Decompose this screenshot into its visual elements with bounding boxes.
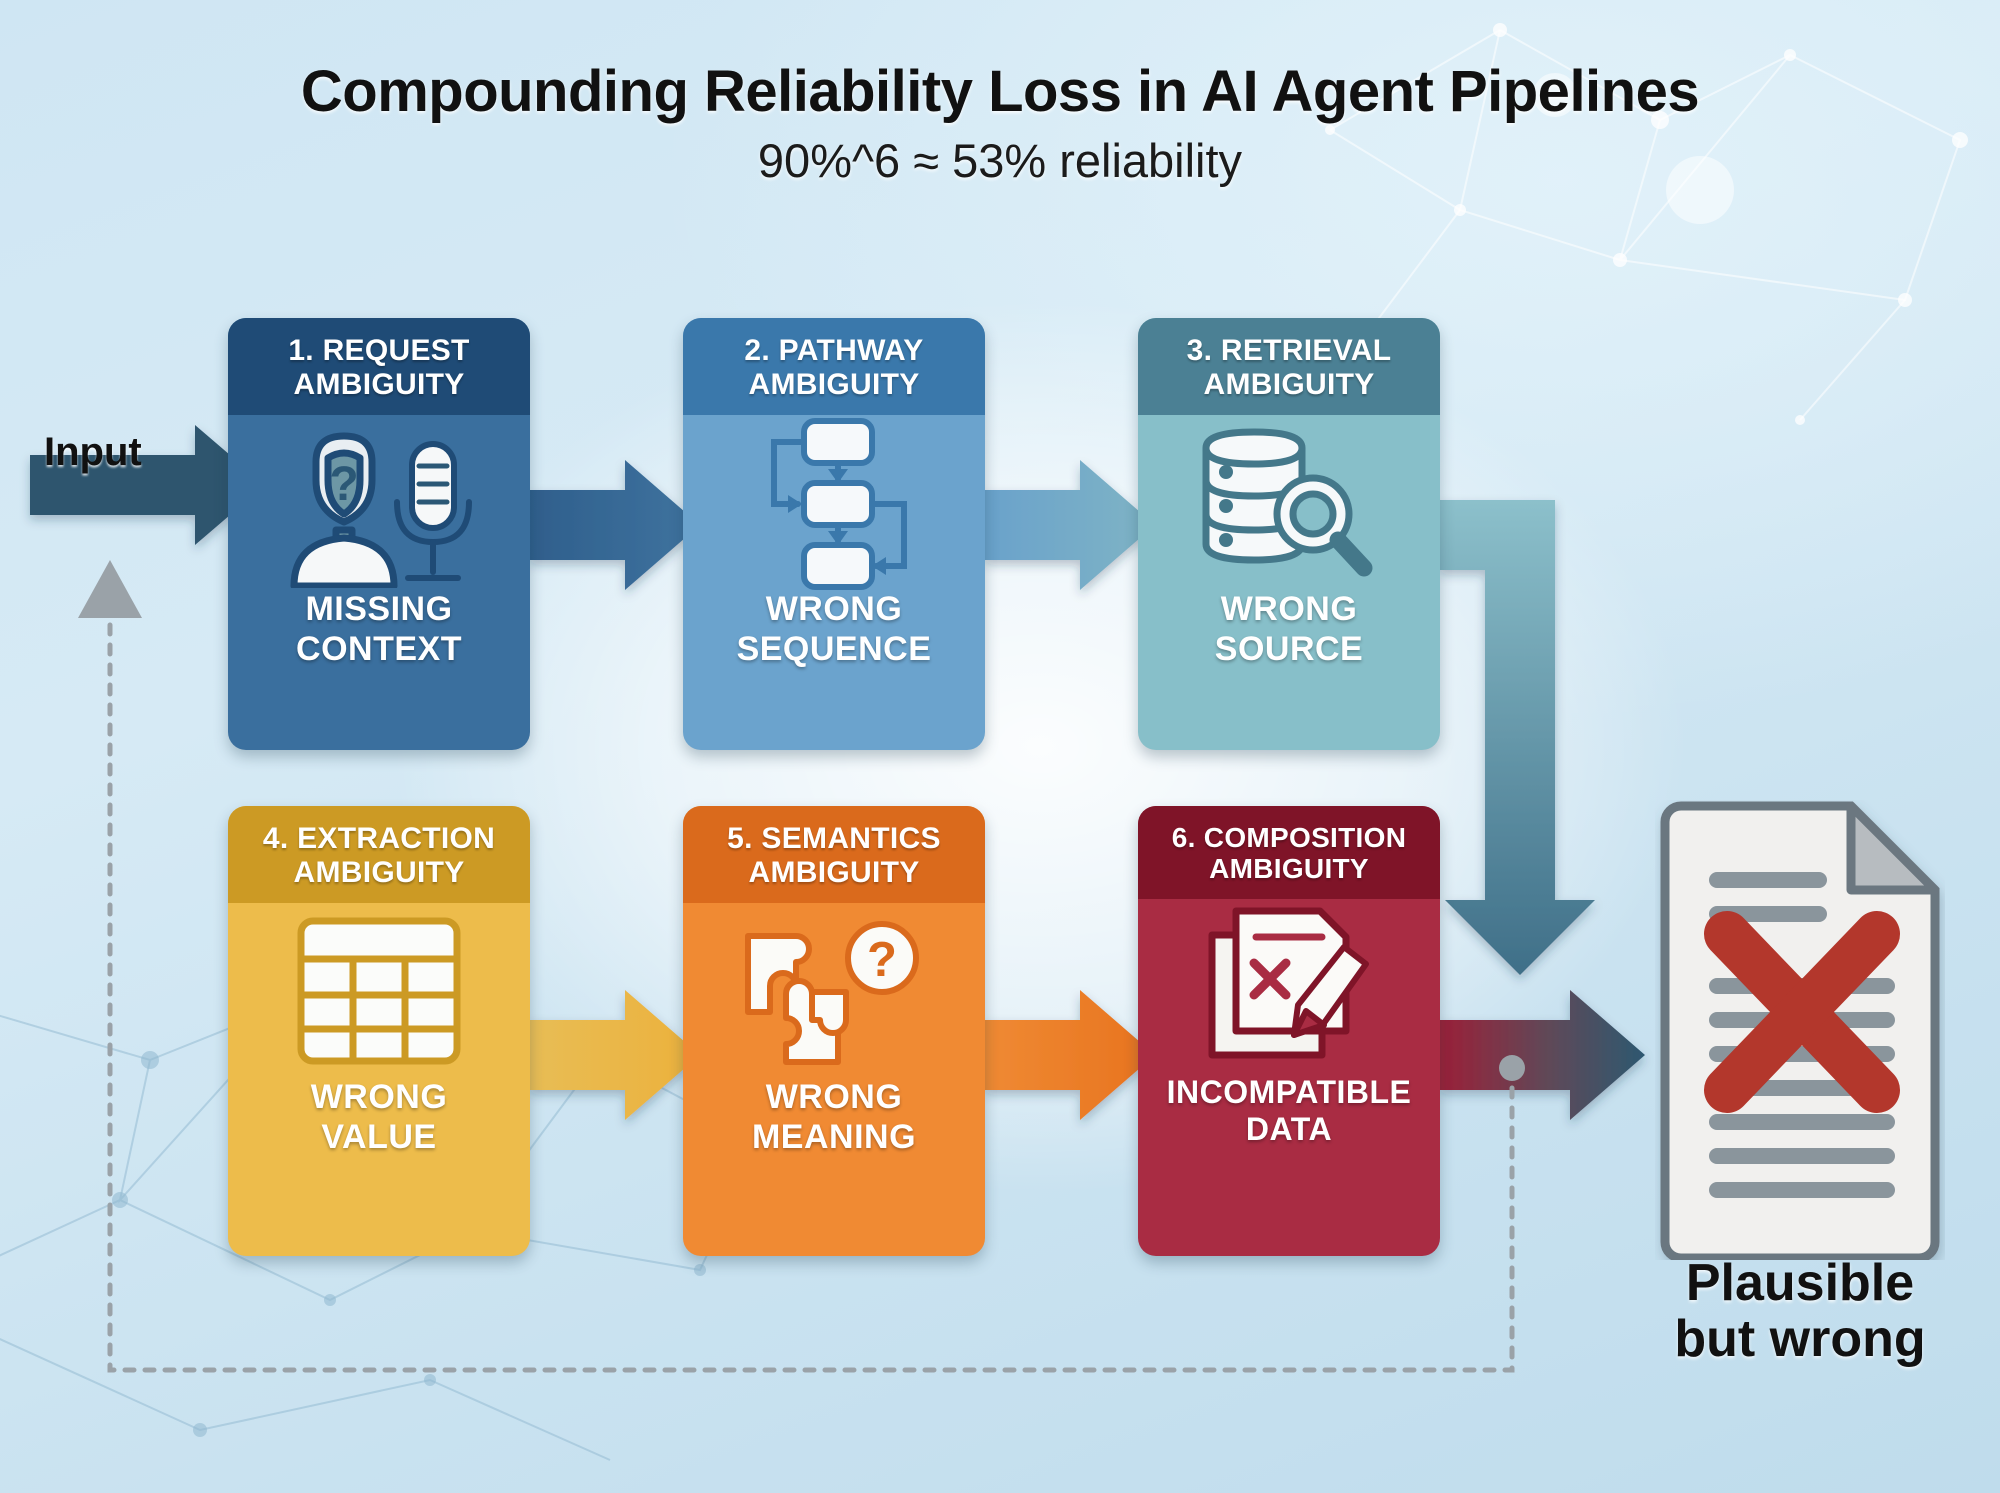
stage-3-header: 3. RETRIEVAL AMBIGUITY — [1138, 318, 1440, 415]
stage-4-foot-line1: WRONG — [311, 1078, 448, 1117]
stage-5-footer: WRONG MEANING — [752, 1078, 916, 1157]
svg-text:?: ? — [329, 458, 358, 511]
input-label: Input — [44, 430, 142, 475]
stage-card-6[interactable]: 6. COMPOSITION AMBIGUITY — [1138, 806, 1440, 1256]
stage-card-4[interactable]: 4. EXTRACTION AMBIGUITY — [228, 806, 530, 1256]
stage-2-header: 2. PATHWAY AMBIGUITY — [683, 318, 985, 415]
document-red-x-icon — [1655, 800, 1945, 1260]
stage-4-footer: WRONG VALUE — [311, 1078, 448, 1157]
flowchart-loop-icon — [734, 415, 934, 590]
stage-3-title-line2: AMBIGUITY — [1144, 368, 1434, 402]
stage-2-title-line2: AMBIGUITY — [689, 368, 979, 402]
stage-card-1[interactable]: 1. REQUEST AMBIGUITY ? — [228, 318, 530, 750]
stage-4-title-line1: 4. EXTRACTION — [234, 822, 524, 856]
person-question-microphone-icon: ? — [254, 415, 504, 590]
documents-pencil-x-icon — [1194, 899, 1384, 1074]
puzzle-question-icon: ? — [734, 903, 934, 1078]
stage-3-foot-line1: WRONG — [1215, 590, 1363, 629]
arrow-stage3-to-output-wrap — [1440, 500, 1595, 975]
arrow-stage1-to-stage2 — [530, 460, 700, 590]
stage-6-title-line1: 6. COMPOSITION — [1144, 822, 1434, 853]
stage-1-header: 1. REQUEST AMBIGUITY — [228, 318, 530, 415]
stage-3-title-line1: 3. RETRIEVAL — [1144, 334, 1434, 368]
stage-6-footer: INCOMPATIBLE DATA — [1167, 1074, 1412, 1148]
output-label-line2: but wrong — [1600, 1311, 2000, 1367]
stage-card-3[interactable]: 3. RETRIEVAL AMBIGUITY — [1138, 318, 1440, 750]
stage-card-2[interactable]: 2. PATHWAY AMBIGUITY — [683, 318, 985, 750]
table-grid-icon — [289, 903, 469, 1078]
stage-4-header: 4. EXTRACTION AMBIGUITY — [228, 806, 530, 903]
stage-5-header: 5. SEMANTICS AMBIGUITY — [683, 806, 985, 903]
stage-5-title-line1: 5. SEMANTICS — [689, 822, 979, 856]
arrow-stage2-to-stage3 — [985, 460, 1155, 590]
stage-3-footer: WRONG SOURCE — [1215, 590, 1363, 669]
stage-6-foot-line1: INCOMPATIBLE — [1167, 1074, 1412, 1111]
svg-text:?: ? — [867, 933, 897, 987]
stage-1-foot-line2: CONTEXT — [296, 630, 462, 669]
output-label-line1: Plausible — [1600, 1255, 2000, 1311]
output-label: Plausible but wrong — [1600, 1255, 2000, 1367]
stage-4-foot-line2: VALUE — [311, 1118, 448, 1157]
stage-5-foot-line1: WRONG — [752, 1078, 916, 1117]
stage-2-foot-line1: WRONG — [737, 590, 932, 629]
database-magnifier-icon — [1184, 415, 1394, 590]
stage-4-title-line2: AMBIGUITY — [234, 856, 524, 890]
stage-6-foot-line2: DATA — [1167, 1111, 1412, 1148]
stage-2-foot-line2: SEQUENCE — [737, 630, 932, 669]
stage-5-foot-line2: MEANING — [752, 1118, 916, 1157]
stage-1-footer: MISSING CONTEXT — [296, 590, 462, 669]
stage-6-header: 6. COMPOSITION AMBIGUITY — [1138, 806, 1440, 899]
stage-card-5[interactable]: 5. SEMANTICS AMBIGUITY ? — [683, 806, 985, 1256]
stage-1-foot-line1: MISSING — [296, 590, 462, 629]
feedback-loop-origin-dot — [1499, 1055, 1525, 1081]
stage-3-foot-line2: SOURCE — [1215, 630, 1363, 669]
stage-1-title-line2: AMBIGUITY — [234, 368, 524, 402]
output-document — [1655, 800, 1945, 1260]
feedback-loop-arrowhead — [78, 560, 142, 618]
stage-5-title-line2: AMBIGUITY — [689, 856, 979, 890]
stage-1-title-line1: 1. REQUEST — [234, 334, 524, 368]
arrow-stage6-to-output — [1440, 990, 1645, 1120]
arrow-stage5-to-stage6 — [985, 990, 1155, 1120]
arrow-stage4-to-stage5 — [530, 990, 700, 1120]
stage-2-title-line1: 2. PATHWAY — [689, 334, 979, 368]
stage-2-footer: WRONG SEQUENCE — [737, 590, 932, 669]
infographic-canvas: Compounding Reliability Loss in AI Agent… — [0, 0, 2000, 1493]
stage-6-title-line2: AMBIGUITY — [1144, 853, 1434, 884]
